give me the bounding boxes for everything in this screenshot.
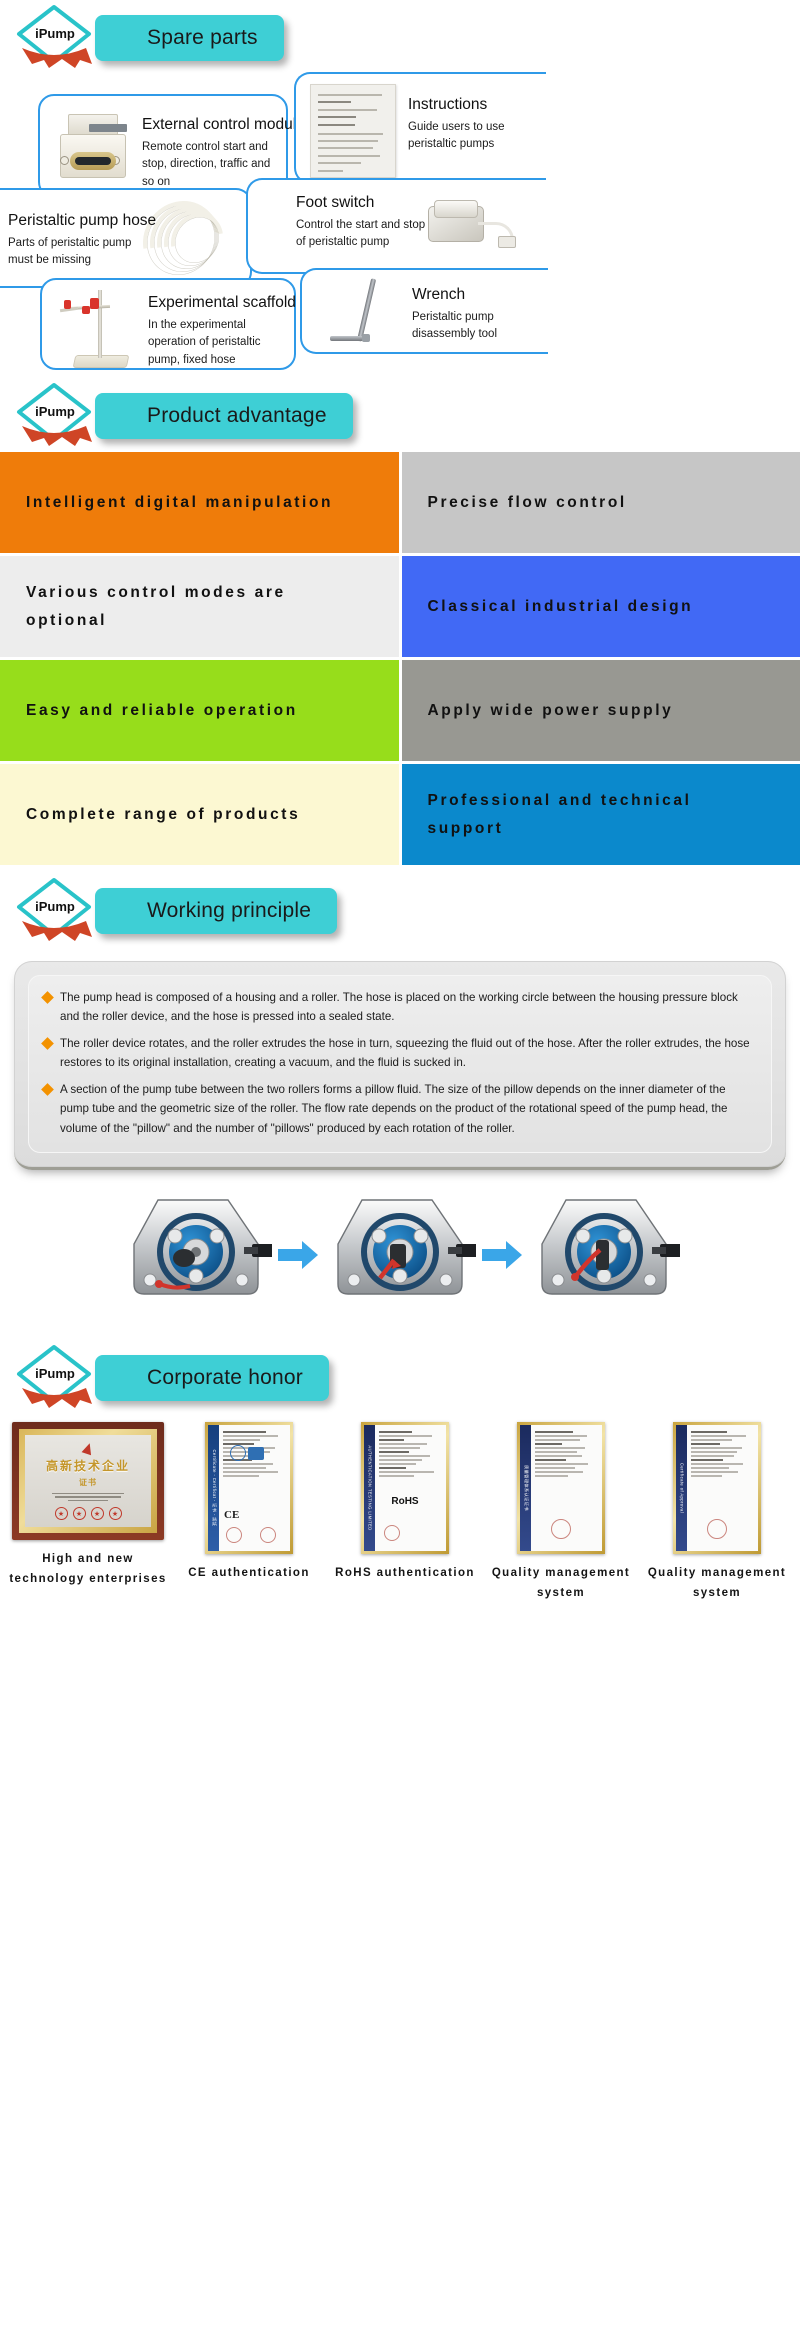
certificate-item[interactable]: Certificate of Approval Quality manageme… <box>642 1422 792 1603</box>
stamp-icon <box>551 1519 571 1539</box>
flow-arrow-icon-2 <box>480 1238 524 1272</box>
advantage-label: Intelligent digital manipulation <box>26 489 333 516</box>
card-desc: Guide users to use peristaltic pumps <box>408 119 534 155</box>
brand-name: iPump <box>35 1366 75 1381</box>
certificate-spine: AUTHENTICATION TESTING LIMITED <box>364 1425 375 1551</box>
certificate-gallery: 高新技术企业 证书 High and new technology enterp… <box>0 1414 800 1617</box>
advantage-tile[interactable]: Classical industrial design <box>402 556 800 657</box>
pump-head-stage-1 <box>120 1192 272 1318</box>
card-desc: In the experimental operation of perista… <box>148 317 294 370</box>
seal-icon <box>55 1507 68 1520</box>
card-title: Instructions <box>408 96 534 115</box>
advantage-tile[interactable]: Professional and technical support <box>402 764 800 865</box>
certificate-label: High and new technology enterprises <box>8 1549 168 1589</box>
spare-card-peristaltic-pump-hose[interactable]: Peristaltic pump hose Parts of peristalt… <box>0 188 252 288</box>
rohs-mark-icon: RoHS <box>391 1496 418 1507</box>
brand-name: iPump <box>35 899 75 914</box>
spare-parts-card-grid: External control module Remote control s… <box>0 78 800 378</box>
section-title: Corporate honor <box>147 1366 303 1390</box>
spare-card-instructions[interactable]: Instructions Guide users to use peristal… <box>294 72 546 184</box>
diamond-bullet-icon <box>41 1037 54 1050</box>
card-desc: Parts of peristaltic pump must be missin… <box>8 235 144 271</box>
instructions-photo <box>310 84 396 178</box>
section-title: Spare parts <box>147 26 258 50</box>
external-control-module-photo <box>54 110 130 184</box>
advantage-tile-grid: Intelligent digital manipulation Precise… <box>0 452 800 865</box>
certificate-label: RoHS authentication <box>335 1563 475 1583</box>
certificate-item[interactable]: 高新技术企业 证书 High and new technology enterp… <box>8 1422 168 1589</box>
stamp-icon <box>260 1527 276 1543</box>
certificate-plaque-image: 高新技术企业 证书 <box>12 1422 164 1540</box>
ce-mark-icon: CE <box>224 1509 239 1521</box>
section-title-bar: Product advantage <box>95 393 353 439</box>
certificate-rohs-image: AUTHENTICATION TESTING LIMITED RoHS <box>361 1422 449 1554</box>
brand-name: iPump <box>35 404 75 419</box>
product-detail-page: Spare parts iPump External control modul… <box>0 0 800 1618</box>
section-title-bar: Spare parts <box>95 15 284 61</box>
advantage-label: Professional and technical support <box>428 787 775 841</box>
ipump-brand-emblem: iPump <box>12 4 98 76</box>
experimental-scaffold-photo <box>60 284 144 370</box>
section-title: Working principle <box>147 899 311 923</box>
card-desc: Peristaltic pump disassembly tool <box>412 309 544 345</box>
certificate-spine: Certificate - Certificat - 证书 - 認証 <box>208 1425 219 1551</box>
seal-icon <box>109 1507 122 1520</box>
certificate-quality-en-image: Certificate of Approval <box>673 1422 761 1554</box>
section-title-bar: Working principle <box>95 888 337 934</box>
wrench-photo <box>324 276 390 356</box>
working-principle-inner: The pump head is composed of a housing a… <box>28 975 772 1153</box>
card-title: Foot switch <box>296 194 428 213</box>
stamp-icon <box>707 1519 727 1539</box>
principle-bullet: The roller device rotates, and the rolle… <box>43 1034 755 1073</box>
advantage-tile[interactable]: Intelligent digital manipulation <box>0 452 399 553</box>
advantage-tile[interactable]: Easy and reliable operation <box>0 660 399 761</box>
principle-bullet: The pump head is composed of a housing a… <box>43 988 755 1027</box>
ipump-brand-emblem: iPump <box>12 382 98 454</box>
certificate-label: CE authentication <box>188 1563 310 1583</box>
certificate-item[interactable]: 质量管理体系认证证书 Quality management system <box>486 1422 636 1603</box>
card-title: Experimental scaffold <box>148 294 294 313</box>
spare-card-foot-switch[interactable]: Foot switch Control the start and stop o… <box>246 178 546 274</box>
card-desc: Control the start and stop of peristalti… <box>296 217 428 253</box>
certificate-cn-title: 高新技术企业 <box>46 1457 130 1474</box>
advantage-label: Precise flow control <box>428 489 627 516</box>
principle-bullet: A section of the pump tube between the t… <box>43 1080 755 1138</box>
stamp-icon <box>384 1525 400 1541</box>
principle-text: The roller device rotates, and the rolle… <box>60 1034 755 1073</box>
certificate-spine: 质量管理体系认证证书 <box>520 1425 531 1551</box>
flame-icon <box>82 1441 95 1455</box>
principle-text: The pump head is composed of a housing a… <box>60 988 755 1027</box>
brand-name: iPump <box>35 26 75 41</box>
pump-working-diagram <box>0 1170 800 1328</box>
ipump-brand-emblem: iPump <box>12 877 98 949</box>
principle-text: A section of the pump tube between the t… <box>60 1080 755 1138</box>
section-title: Product advantage <box>147 404 327 428</box>
certificate-item[interactable]: Certificate - Certificat - 证书 - 認証 CE CE… <box>174 1422 324 1583</box>
diamond-bullet-icon <box>41 1083 54 1096</box>
stamp-icon <box>226 1527 242 1543</box>
ipump-brand-emblem: iPump <box>12 1344 98 1416</box>
section-header-working-principle: Working principle iPump <box>0 873 800 947</box>
advantage-label: Apply wide power supply <box>428 697 674 724</box>
certificate-label: Quality management system <box>486 1563 636 1603</box>
card-title: Peristaltic pump hose <box>8 212 144 231</box>
working-principle-panel-wrap: The pump head is composed of a housing a… <box>0 947 800 1170</box>
card-title: Wrench <box>412 286 544 305</box>
spare-card-experimental-scaffold[interactable]: Experimental scaffold In the experimenta… <box>40 278 296 370</box>
advantage-tile[interactable]: Apply wide power supply <box>402 660 800 761</box>
certificate-item[interactable]: AUTHENTICATION TESTING LIMITED RoHS RoHS… <box>330 1422 480 1583</box>
advantage-tile[interactable]: Complete range of products <box>0 764 399 865</box>
advantage-label: Various control modes are optional <box>26 579 373 633</box>
section-header-spare-parts: Spare parts iPump <box>0 0 800 74</box>
section-title-bar: Corporate honor <box>95 1355 329 1401</box>
seal-icon <box>91 1507 104 1520</box>
certificate-spine: Certificate of Approval <box>676 1425 687 1551</box>
certificate-ce-image: Certificate - Certificat - 证书 - 認証 CE <box>205 1422 293 1554</box>
pump-head-stage-2 <box>324 1192 476 1318</box>
advantage-tile[interactable]: Various control modes are optional <box>0 556 399 657</box>
certificate-cn-sub: 证书 <box>79 1477 97 1488</box>
section-header-corporate-honor: Corporate honor iPump <box>0 1340 800 1414</box>
logo-icon <box>248 1447 264 1460</box>
advantage-label: Complete range of products <box>26 801 300 828</box>
advantage-label: Classical industrial design <box>428 593 694 620</box>
peristaltic-pump-hose-photo <box>142 196 238 288</box>
diamond-bullet-icon <box>41 991 54 1004</box>
spare-card-wrench[interactable]: Wrench Peristaltic pump disassembly tool <box>300 268 548 354</box>
flow-arrow-icon-1 <box>276 1238 320 1272</box>
card-title: External control module <box>142 116 282 135</box>
advantage-tile[interactable]: Precise flow control <box>402 452 800 553</box>
certificate-label: Quality management system <box>642 1563 792 1603</box>
advantage-label: Easy and reliable operation <box>26 697 298 724</box>
foot-switch-photo <box>424 192 516 258</box>
pump-head-stage-3 <box>528 1192 680 1318</box>
working-principle-panel: The pump head is composed of a housing a… <box>14 961 786 1170</box>
seal-icon <box>73 1507 86 1520</box>
certificate-quality-cn-image: 质量管理体系认证证书 <box>517 1422 605 1554</box>
section-header-product-advantage: Product advantage iPump <box>0 378 800 452</box>
